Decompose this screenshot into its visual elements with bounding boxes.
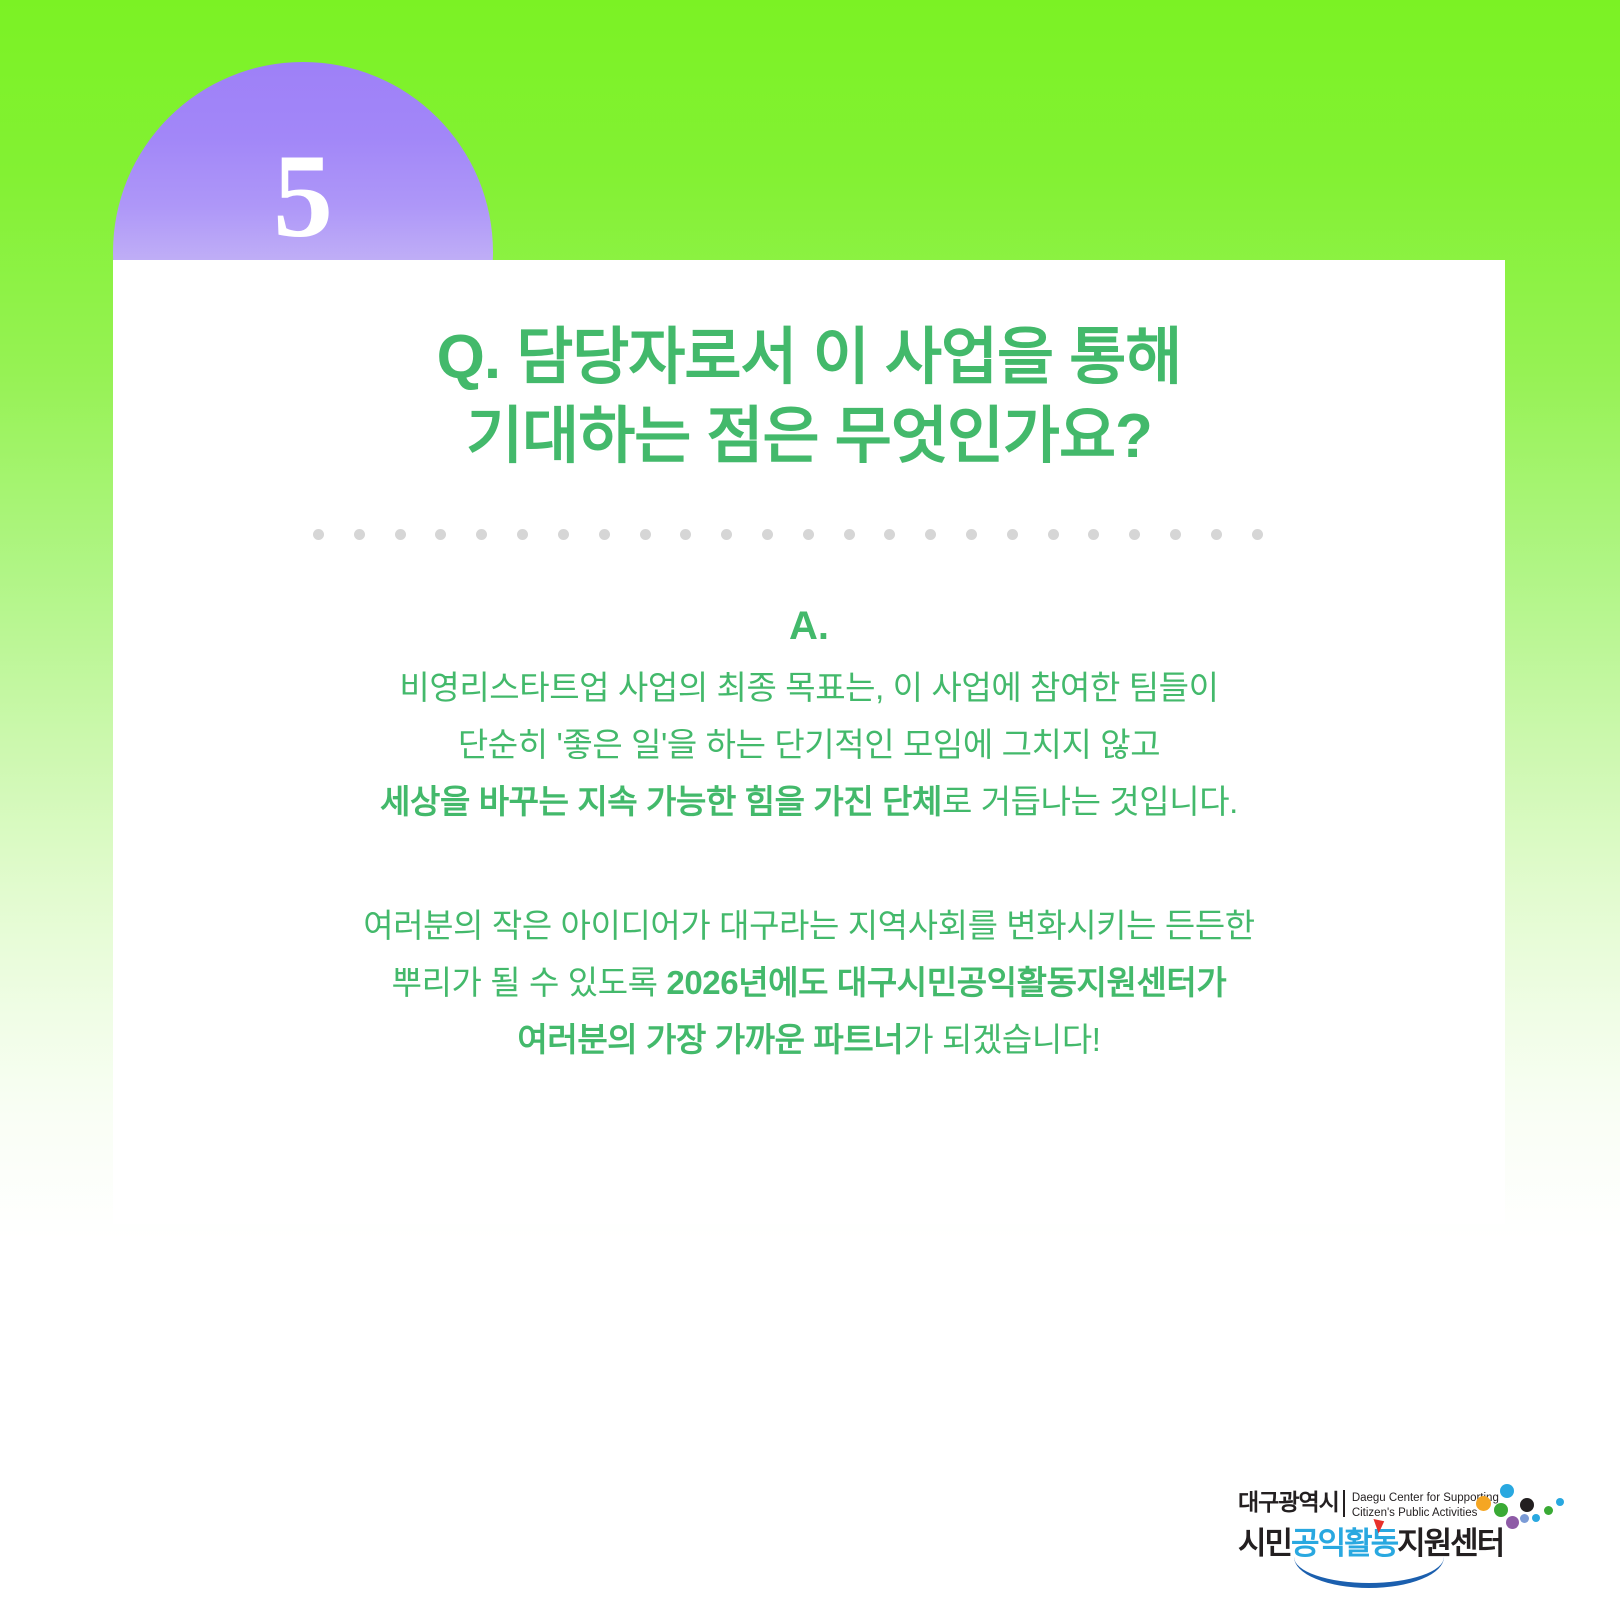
logo-dot [1520,1498,1534,1512]
logo-top-row: 대구광역시 Daegu Center for Supporting Citize… [1238,1490,1568,1520]
divider-dot [1048,529,1059,540]
logo-dot [1556,1498,1564,1506]
logo-dot [1476,1496,1491,1511]
divider-dot [476,529,487,540]
logo-swoosh-icon [1294,1557,1444,1588]
answer-p1-line2: 단순히 '좋은 일'을 하는 단기적인 모임에 그치지 않고 [458,726,1160,763]
answer-paragraph-1: 비영리스타트업 사업의 최종 목표는, 이 사업에 참여한 팀들이 단순히 '좋… [169,660,1449,830]
divider-dot [803,529,814,540]
divider-dot [558,529,569,540]
answer-p2-line1: 여러분의 작은 아이디어가 대구라는 지역사회를 변화시키는 든든한 [363,907,1255,944]
divider-dot [925,529,936,540]
divider-dot [762,529,773,540]
logo-center-name: 시민공익활동지원센터 [1238,1527,1568,1561]
answer-marker: A. [113,606,1505,646]
divider-dot [395,529,406,540]
logo-dot [1494,1503,1508,1517]
logo-city-name: 대구광역시 [1238,1490,1339,1514]
divider-dot [884,529,895,540]
divider-dot [1007,529,1018,540]
content-card: Q. 담당자로서 이 사업을 통해 기대하는 점은 무엇인가요? [113,260,1505,1224]
step-number-label: 5 [273,136,333,256]
divider-dot [966,529,977,540]
logo-dots-icon [1476,1484,1568,1530]
divider-dot [844,529,855,540]
answer-p2-line2-plain: 뿌리가 될 수 있도록 [392,964,667,1001]
logo-dot [1500,1484,1514,1498]
answer-p2-line3-rest: 가 되겠습니다! [903,1021,1100,1058]
answer-p2-line2-bold: 2026년에도 대구시민공익활동지원센터가 [666,964,1226,1001]
question-title: Q. 담당자로서 이 사업을 통해 기대하는 점은 무엇인가요? [113,318,1505,477]
logo-name-part-1: 시민 [1238,1526,1291,1561]
dotted-divider [313,528,1263,540]
answer-p1-line3-bold: 세상을 바꾸는 지속 가능한 힘을 가진 단체 [380,783,942,820]
divider-dot [313,529,324,540]
divider-dot [640,529,651,540]
logo-divider-bar [1343,1490,1345,1517]
logo-dot [1544,1506,1553,1515]
divider-dot [721,529,732,540]
logo-name-part-2: 공익 [1291,1526,1344,1561]
logo-dot [1532,1514,1540,1522]
slide-canvas: 5 Q. 담당자로서 이 사업을 통해 기대하는 점은 무엇인가요? [0,0,1620,1620]
divider-dot [680,529,691,540]
divider-dot [1211,529,1222,540]
divider-dot [1129,529,1140,540]
answer-paragraph-2: 여러분의 작은 아이디어가 대구라는 지역사회를 변화시키는 든든한 뿌리가 될… [169,898,1449,1068]
logo-name-part-4: 지원센터 [1397,1526,1503,1561]
divider-dot [1088,529,1099,540]
answer-p1-line3-rest: 로 거듭나는 것입니다. [942,783,1238,820]
answer-p2-line3-bold: 여러분의 가장 가까운 파트너 [517,1021,903,1058]
logo-dot [1520,1514,1529,1523]
divider-dot [517,529,528,540]
organization-logo: 대구광역시 Daegu Center for Supporting Citize… [1238,1490,1568,1600]
divider-dot [435,529,446,540]
divider-dot [1170,529,1181,540]
divider-dot [1252,529,1263,540]
divider-dot [599,529,610,540]
divider-dot [354,529,365,540]
answer-p1-line1: 비영리스타트업 사업의 최종 목표는, 이 사업에 참여한 팀들이 [399,669,1218,706]
